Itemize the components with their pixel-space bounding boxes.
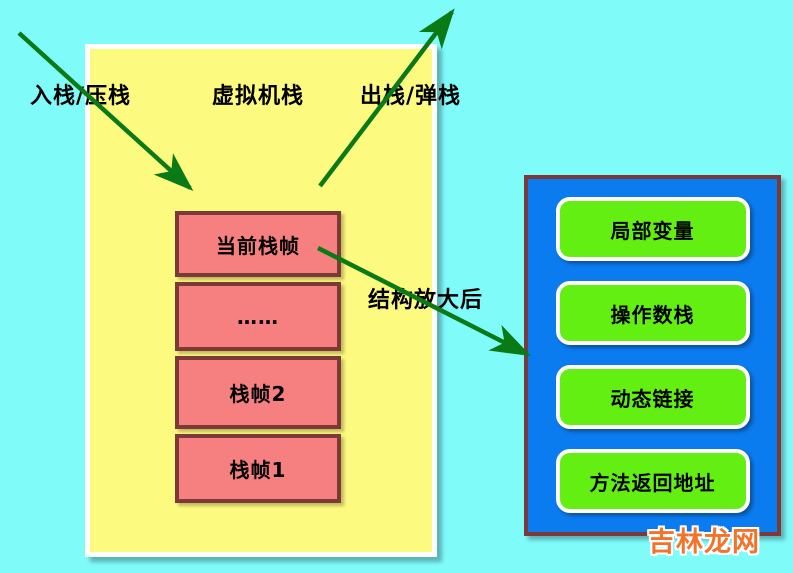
page-title: 虚拟机栈 (212, 86, 304, 108)
pop-label: 出栈/弹栈 (360, 86, 461, 108)
detail-item-dynamic-linking: 动态链接 (556, 365, 750, 429)
stack-frame-list: 当前栈帧 …… 栈帧2 栈帧1 (175, 211, 341, 503)
detail-item-operand-stack: 操作数栈 (556, 281, 750, 345)
stack-frame-ellipsis: …… (175, 282, 341, 351)
push-label: 入栈/压栈 (30, 86, 131, 108)
detail-item-local-variables: 局部变量 (556, 197, 750, 261)
detail-item-return-address: 方法返回地址 (556, 449, 750, 513)
stack-frame-2: 栈帧2 (175, 356, 341, 429)
stack-frame-1: 栈帧1 (175, 434, 341, 503)
watermark: 吉林龙网 (648, 520, 760, 559)
frame-detail-panel: 局部变量 操作数栈 动态链接 方法返回地址 (524, 175, 781, 536)
stack-frame-current: 当前栈帧 (175, 211, 341, 277)
zoom-in-label: 结构放大后 (368, 290, 483, 312)
diagram-canvas: 入栈/压栈 虚拟机栈 出栈/弹栈 结构放大后 当前栈帧 …… 栈帧2 栈帧1 局… (0, 0, 793, 573)
